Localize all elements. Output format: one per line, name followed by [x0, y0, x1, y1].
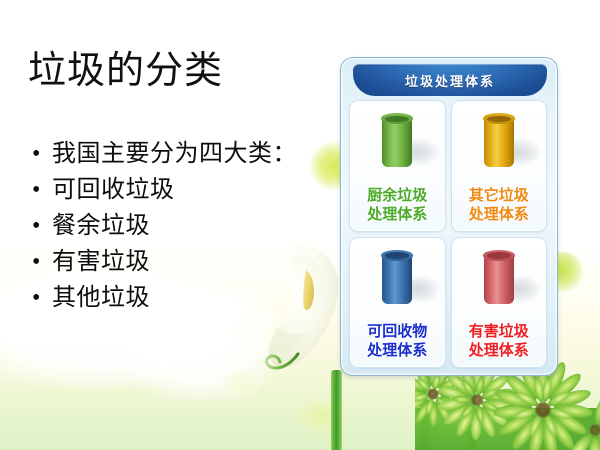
- bin-rim: [381, 250, 413, 261]
- bullet-marker: •: [32, 244, 41, 280]
- bin-body: [484, 118, 514, 167]
- list-item: • 餐余垃圾: [26, 208, 326, 244]
- list-item-label: 可回收垃圾: [52, 177, 175, 203]
- bullet-marker: •: [32, 280, 41, 316]
- list-item-label: 有害垃圾: [52, 249, 150, 275]
- board-cell-label: 有害垃圾 处理体系: [452, 322, 547, 360]
- board-cell-hazardous-waste: 有害垃圾 处理体系: [451, 237, 548, 369]
- board-cell-label-line2: 处理体系: [350, 341, 445, 360]
- list-item: • 有害垃圾: [26, 244, 326, 280]
- board-cell-label: 其它垃圾 处理体系: [452, 186, 547, 224]
- slide-canvas: 垃圾的分类 • 我国主要分为四大类： • 可回收垃圾 • 餐余垃圾 • 有害垃圾…: [0, 0, 600, 450]
- bin-rim: [483, 250, 515, 261]
- list-item-label: 其他垃圾: [52, 285, 150, 311]
- board-cell-label-line1: 有害垃圾: [452, 322, 547, 341]
- waste-system-board: 垃圾处理体系 厨余垃圾 处理体系: [340, 57, 558, 376]
- board-cell-label-line1: 厨余垃圾: [350, 186, 445, 205]
- trash-bin-icon: [484, 250, 514, 304]
- bullet-marker: •: [32, 172, 41, 208]
- green-stem-icon: [331, 370, 342, 450]
- bin-body: [382, 255, 412, 304]
- bin-illustration: [350, 246, 445, 308]
- trash-bin-icon: [382, 113, 412, 167]
- bin-opening: [385, 252, 409, 259]
- board-cell-recyclable: 可回收物 处理体系: [349, 237, 446, 369]
- list-item-label: 餐余垃圾: [52, 213, 150, 239]
- trash-bin-icon: [382, 250, 412, 304]
- list-item-label: 我国主要分为四大类：: [52, 141, 297, 167]
- bullet-marker: •: [32, 208, 41, 244]
- board-cell-other-waste: 其它垃圾 处理体系: [451, 100, 548, 232]
- list-item: • 其他垃圾: [26, 280, 326, 316]
- board-cell-label-line2: 处理体系: [452, 205, 547, 224]
- bin-opening: [487, 252, 511, 259]
- list-item: • 可回收垃圾: [26, 172, 326, 208]
- bin-illustration: [350, 109, 445, 171]
- bin-rim: [483, 113, 515, 124]
- board-cell-label-line2: 处理体系: [452, 341, 547, 360]
- bin-opening: [385, 116, 409, 123]
- board-cell-label: 可回收物 处理体系: [350, 322, 445, 360]
- page-title: 垃圾的分类: [28, 50, 328, 94]
- trash-bin-icon: [484, 113, 514, 167]
- board-cell-label: 厨余垃圾 处理体系: [350, 186, 445, 224]
- board-cell-kitchen-waste: 厨余垃圾 处理体系: [349, 100, 446, 232]
- bin-illustration: [452, 109, 547, 171]
- bin-illustration: [452, 246, 547, 308]
- bin-opening: [487, 116, 511, 123]
- bullet-marker: •: [32, 136, 41, 172]
- green-foliage-band: [415, 408, 600, 450]
- bokeh-glow-icon: [222, 368, 262, 398]
- bin-rim: [381, 113, 413, 124]
- bullet-list: • 我国主要分为四大类： • 可回收垃圾 • 餐余垃圾 • 有害垃圾 • 其他垃…: [26, 136, 326, 316]
- bin-body: [484, 255, 514, 304]
- board-cell-label-line1: 其它垃圾: [452, 186, 547, 205]
- board-cell-label-line2: 处理体系: [350, 205, 445, 224]
- board-header: 垃圾处理体系: [353, 64, 547, 96]
- board-header-label: 垃圾处理体系: [405, 71, 495, 90]
- list-item: • 我国主要分为四大类：: [26, 136, 326, 172]
- board-grid: 厨余垃圾 处理体系 其它垃圾 处理体系: [349, 100, 547, 368]
- board-cell-label-line1: 可回收物: [350, 322, 445, 341]
- bin-body: [382, 118, 412, 167]
